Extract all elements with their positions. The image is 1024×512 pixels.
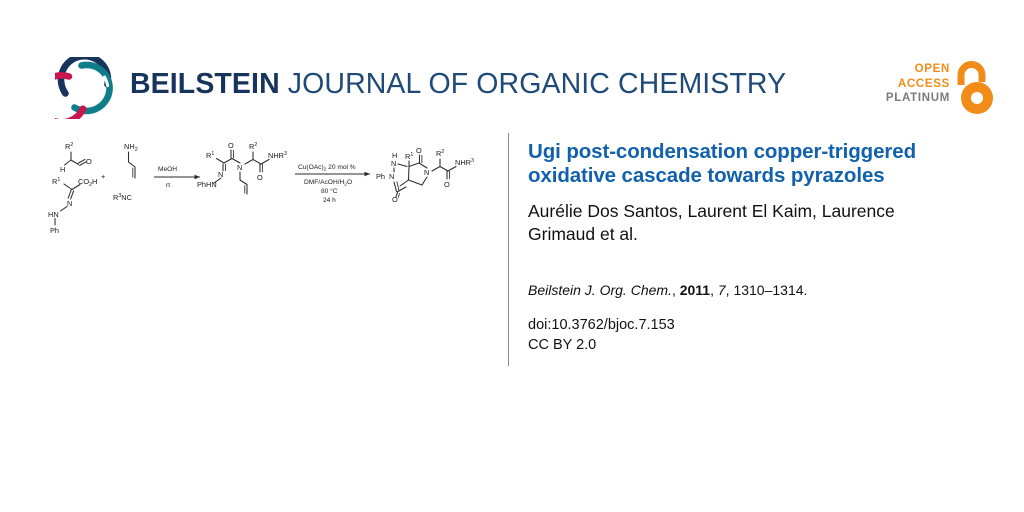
product-o-amide-label: O: [444, 180, 450, 189]
product-r2-label: R2: [436, 149, 444, 158]
aldehyde-o-label: O: [86, 157, 92, 166]
article-authors: Aurélie Dos Santos, Laurent El Kaim, Lau…: [528, 200, 964, 246]
arrow2-condition-solvent: DMF/AcOH/H2O: [304, 179, 352, 188]
oa-line-access: ACCESS: [886, 77, 950, 92]
citation-year: 2011: [680, 282, 710, 298]
intermediate-phhn-label: PhHN: [197, 180, 217, 189]
hydrazone-r1-label: R1: [52, 177, 60, 186]
oa-line-platinum: PLATINUM: [886, 91, 950, 106]
masthead: BEILSTEIN JOURNAL OF ORGANIC CHEMISTRY O…: [0, 0, 1024, 130]
product-n-left-label: N: [389, 172, 394, 181]
journal-wordmark: BEILSTEIN JOURNAL OF ORGANIC CHEMISTRY: [130, 68, 786, 101]
arrow1-condition-below: rt: [166, 182, 170, 189]
panel-divider: [508, 133, 509, 366]
reaction-scheme-figure: R2 O H R1 CO2H N HN Ph + NH2 R3NC MeOH: [40, 132, 500, 247]
arrow2-condition-time: 24 h: [323, 197, 336, 204]
article-doi[interactable]: doi:10.3762/bjoc.7.153: [528, 316, 980, 336]
intermediate-n-label: N: [218, 170, 223, 179]
product-ph-label: Ph: [376, 172, 385, 181]
intermediate-n-amide-label: N: [237, 163, 242, 172]
oa-line-open: OPEN: [886, 62, 950, 77]
product-nhr3-label: NHR3: [455, 158, 474, 167]
open-access-badge: OPEN ACCESS PLATINUM: [872, 60, 997, 122]
product-r1-label: R1: [405, 152, 413, 161]
isocyanide-label: R3NC: [113, 193, 133, 202]
citation-pages: 1310–1314.: [733, 282, 807, 298]
intermediate-o-top-label: O: [228, 141, 234, 150]
citation-sep-1: ,: [672, 282, 680, 298]
hydrazone-ph-label: Ph: [50, 226, 59, 235]
intermediate-nhr3-label: NHR3: [268, 151, 287, 160]
arrow2-condition-temperature: 80 °C: [321, 187, 338, 195]
beilstein-ring-logo: [55, 57, 117, 119]
article-citation: Beilstein J. Org. Chem., 2011, 7, 1310–1…: [528, 281, 980, 299]
plus-sign-1: +: [101, 172, 105, 181]
open-lock-icon: [953, 60, 997, 118]
intermediate-o-bottom-label: O: [257, 173, 263, 182]
article-license[interactable]: CC BY 2.0: [528, 336, 980, 356]
product-nh-h-label: H: [392, 151, 397, 160]
intermediate-r2-label: R2: [249, 142, 257, 151]
hydrazone-n-label: N: [67, 199, 72, 208]
product-nh-n-label: N: [391, 159, 396, 168]
arrow1-condition-above: MeOH: [158, 166, 177, 173]
hydrazone-co2h-label: CO2H: [78, 177, 97, 188]
aldehyde-r2-label: R2: [65, 142, 73, 151]
product-o-left-label: O: [392, 195, 398, 204]
intermediate-r1-label: R1: [206, 151, 214, 160]
product-n-ring-label: N: [424, 168, 429, 177]
article-panel: Ugi post-condensation copper-triggered o…: [528, 140, 980, 355]
aldehyde-h-label: H: [60, 165, 65, 174]
citation-volume: 7: [718, 282, 726, 298]
arrow2-condition-above: Cu(OAc)2 20 mol %: [298, 164, 356, 173]
citation-journal: Beilstein J. Org. Chem.: [528, 282, 672, 298]
article-title[interactable]: Ugi post-condensation copper-triggered o…: [528, 140, 980, 187]
citation-sep-2: ,: [710, 282, 718, 298]
wordmark-light: JOURNAL OF ORGANIC CHEMISTRY: [280, 68, 786, 100]
open-access-text: OPEN ACCESS PLATINUM: [886, 62, 950, 106]
wordmark-bold: BEILSTEIN: [130, 68, 280, 100]
hydrazone-hn-label: HN: [48, 210, 59, 219]
amine-nh2-label: NH2: [124, 142, 138, 153]
product-o-top-label: O: [416, 146, 422, 155]
